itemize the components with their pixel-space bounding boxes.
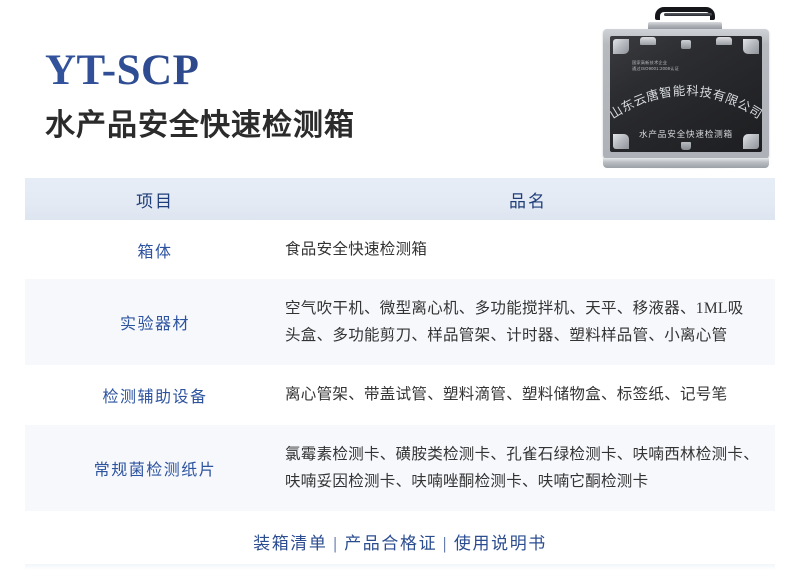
column-header-name: 品名 xyxy=(285,178,775,220)
product-spec-page: YT-SCP 水产品安全快速检测箱 国家高新技术企业 通过ISO9001:200… xyxy=(0,0,800,570)
table-header-row: 项目 品名 xyxy=(25,178,775,220)
spec-table-body: 箱体 食品安全快速检测箱 实验器材 空气吹干机、微型离心机、多功能搅拌机、天平、… xyxy=(25,220,775,570)
page-title: YT-SCP xyxy=(45,48,565,93)
case-corner-top-left-icon xyxy=(613,39,629,54)
table-row: 检测辅助设备 离心管架、带盖试管、塑料滴管、塑料储物盒、标签纸、记号笔 xyxy=(25,365,775,424)
table-footer-row: 装箱清单 | 产品合格证 | 使用说明书 xyxy=(25,511,775,570)
case-model-label: 水产品安全快速检测箱 xyxy=(610,128,762,140)
spec-table-head: 项目 品名 xyxy=(25,178,775,220)
case-lock-top-icon xyxy=(681,40,691,49)
case-lock-bottom-icon xyxy=(681,142,691,150)
case-bottom-rail xyxy=(603,158,769,168)
product-image: 国家高新技术企业 通过ISO9001:2008认证 山东云唐智能科技有限公司 水… xyxy=(592,4,780,176)
case-latch-right-icon xyxy=(716,37,732,45)
svg-text:山东云唐智能科技有限公司: 山东云唐智能科技有限公司 xyxy=(610,84,762,120)
case-company-arc: 山东云唐智能科技有限公司 xyxy=(610,76,762,120)
row-item-label: 常规菌检测纸片 xyxy=(25,425,285,511)
footer-links-cell: 装箱清单 | 产品合格证 | 使用说明书 xyxy=(25,511,775,570)
product-header: YT-SCP 水产品安全快速检测箱 xyxy=(45,48,565,144)
footer-links[interactable]: 装箱清单 | 产品合格证 | 使用说明书 xyxy=(253,529,547,554)
spec-table: 项目 品名 箱体 食品安全快速检测箱 实验器材 空气吹干机、微型离心机、多功能搅… xyxy=(25,178,775,570)
row-name-value: 食品安全快速检测箱 xyxy=(285,220,775,279)
case-company-label: 山东云唐智能科技有限公司 xyxy=(610,84,762,120)
row-name-value: 离心管架、带盖试管、塑料滴管、塑料储物盒、标签纸、记号笔 xyxy=(285,365,775,424)
table-row: 实验器材 空气吹干机、微型离心机、多功能搅拌机、天平、移液器、1ML吸头盒、多功… xyxy=(25,279,775,365)
table-row: 箱体 食品安全快速检测箱 xyxy=(25,220,775,279)
product-subtitle: 水产品安全快速检测箱 xyxy=(45,109,565,144)
case-front-panel: 国家高新技术企业 通过ISO9001:2008认证 山东云唐智能科技有限公司 水… xyxy=(610,36,762,152)
row-name-value: 氯霉素检测卡、磺胺类检测卡、孔雀石绿检测卡、呋喃西林检测卡、呋喃妥因检测卡、呋喃… xyxy=(285,425,775,511)
row-item-label: 箱体 xyxy=(25,220,285,279)
row-item-label: 检测辅助设备 xyxy=(25,365,285,424)
column-header-item: 项目 xyxy=(25,178,285,220)
table-row: 常规菌检测纸片 氯霉素检测卡、磺胺类检测卡、孔雀石绿检测卡、呋喃西林检测卡、呋喃… xyxy=(25,425,775,511)
case-certification-text: 国家高新技术企业 通过ISO9001:2008认证 xyxy=(632,60,679,73)
row-item-label: 实验器材 xyxy=(25,279,285,365)
case-corner-top-right-icon xyxy=(743,39,759,54)
case-latch-left-icon xyxy=(640,37,656,45)
case-body: 国家高新技术企业 通过ISO9001:2008认证 山东云唐智能科技有限公司 水… xyxy=(603,29,769,159)
row-name-value: 空气吹干机、微型离心机、多功能搅拌机、天平、移液器、1ML吸头盒、多功能剪刀、样… xyxy=(285,279,775,365)
bottom-fade-divider xyxy=(25,564,775,570)
